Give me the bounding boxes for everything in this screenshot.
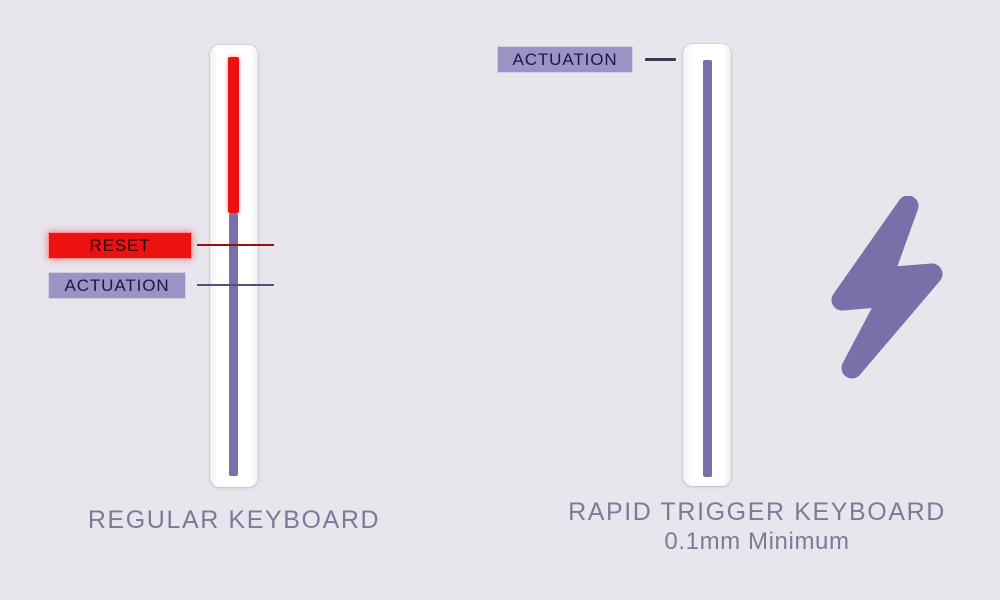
regular-keyboard-caption: REGULAR KEYBOARD [0,506,468,535]
regular-reset-label-text: RESET [89,236,150,256]
regular-actuation-indicator-line [197,284,274,286]
regular-actuation-travel-bar [229,213,238,476]
rapid-trigger-actuation-leader-line [645,58,676,61]
regular-reset-travel-bar [228,57,239,213]
rapid-trigger-keyboard-caption: RAPID TRIGGER KEYBOARD [517,498,997,527]
rapid-trigger-travel-bar [703,60,712,477]
rapid-trigger-actuation-label-text: ACTUATION [512,50,617,70]
lightning-bolt-icon [812,196,958,380]
rapid-trigger-actuation-label: ACTUATION [497,46,633,73]
regular-actuation-label-text: ACTUATION [64,276,169,296]
regular-reset-label: RESET [48,232,192,259]
rapid-trigger-keyboard-subcaption: 0.1mm Minimum [517,528,997,556]
regular-reset-indicator-line [197,244,274,246]
regular-actuation-label: ACTUATION [48,272,186,299]
infographic-canvas: RESET ACTUATION REGULAR KEYBOARD ACTUATI… [0,0,1000,600]
